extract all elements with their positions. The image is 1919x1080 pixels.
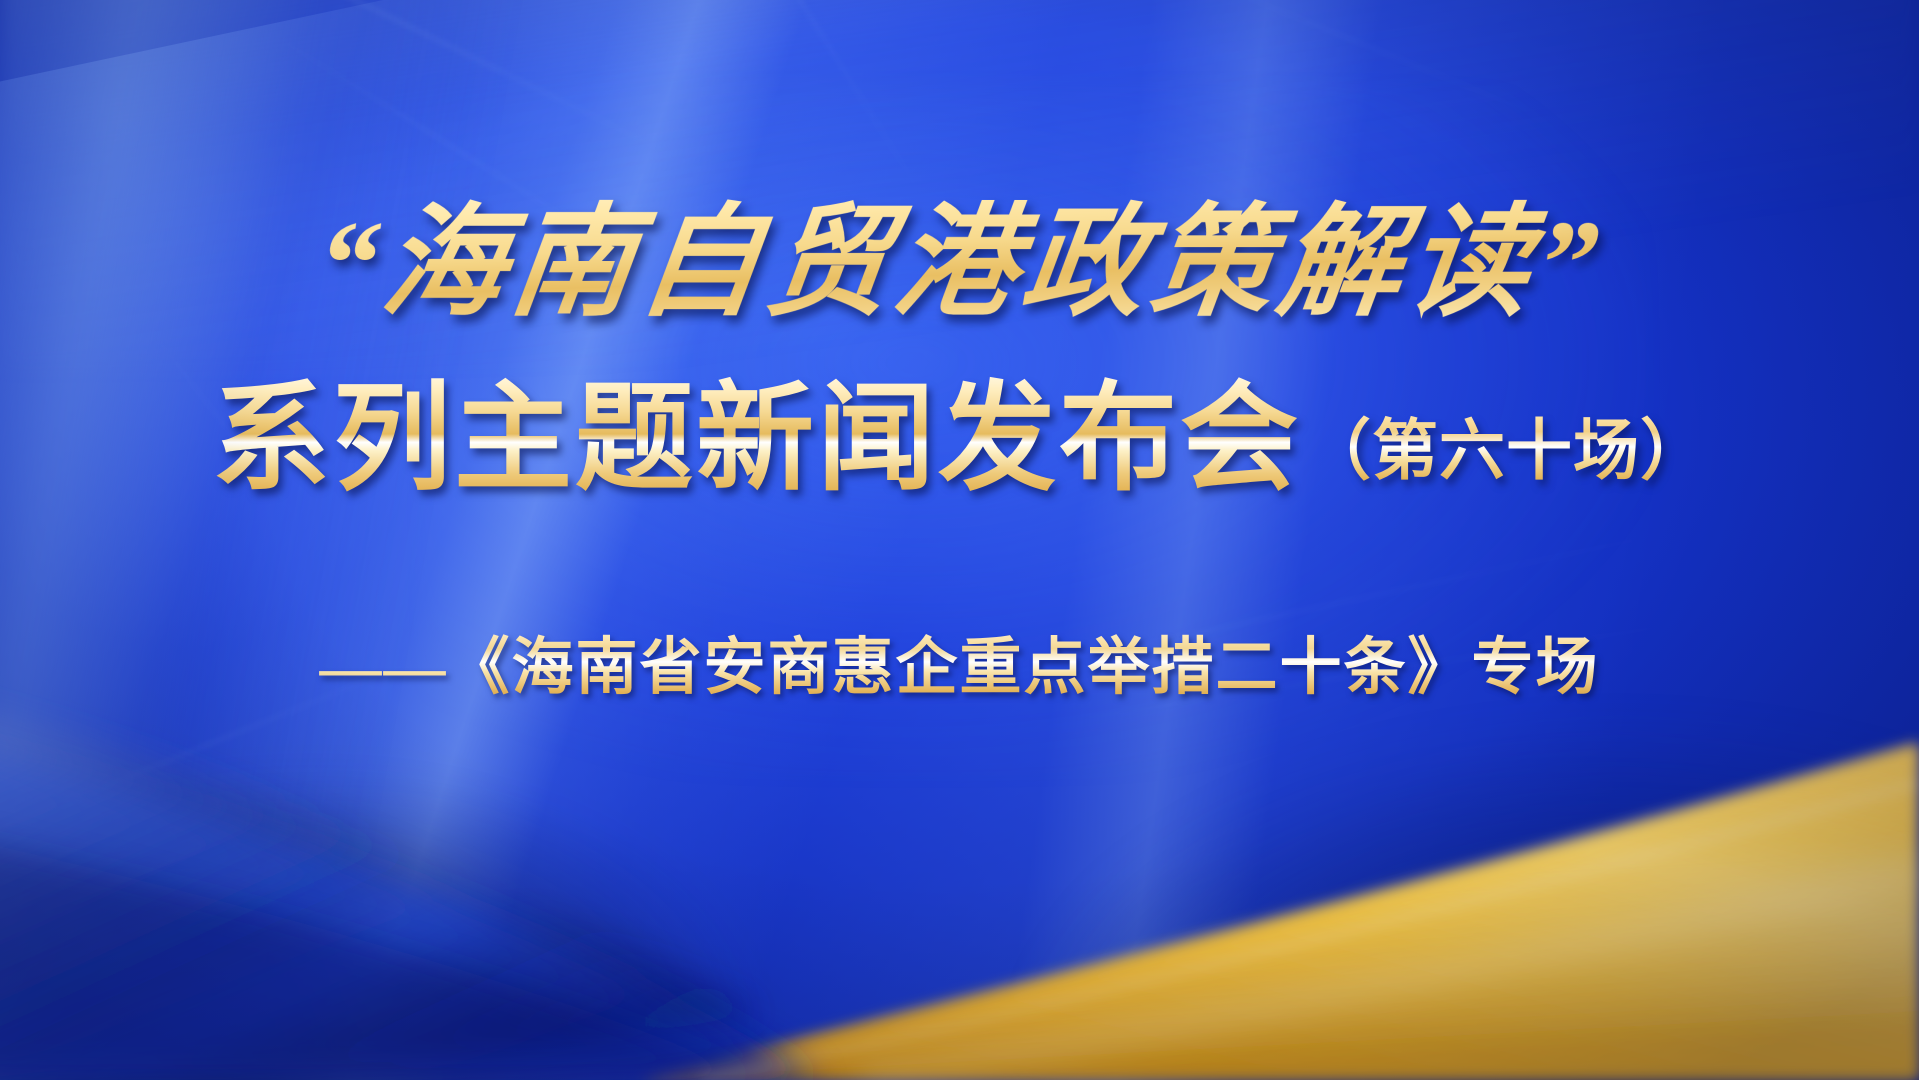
banner-session-label: （第六十场） (1305, 397, 1707, 493)
banner-calligraphy-line: “海南自贸港政策解读” (0, 196, 1919, 333)
banner-main-line: 系列主题新闻发布会 (212, 370, 1301, 509)
silk-shadow-bottom-right (883, 713, 1919, 1080)
banner-main-line-row: 系列主题新闻发布会 （第六十场） (0, 370, 1919, 509)
banner-subtitle-line: ——《海南省安商惠企重点举措二十条》专场 (0, 616, 1919, 706)
news-conference-backdrop: “海南自贸港政策解读” 系列主题新闻发布会 （第六十场） ——《海南省安商惠企重… (0, 0, 1919, 1080)
